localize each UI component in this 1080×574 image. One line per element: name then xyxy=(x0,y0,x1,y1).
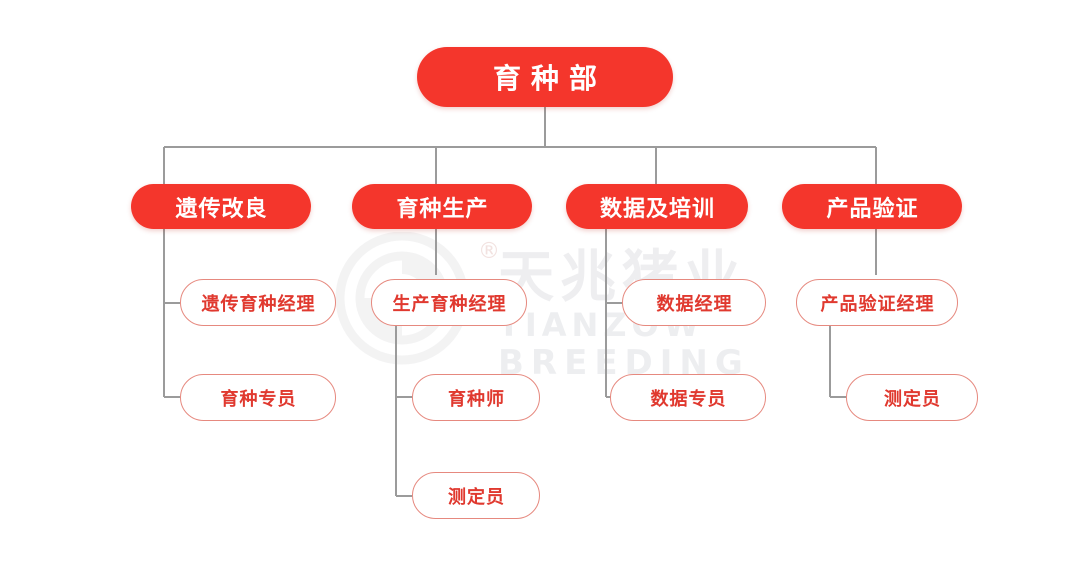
node-measurement-technician-verification[interactable]: 测定员 xyxy=(846,374,978,421)
node-root-breeding-department[interactable]: 育种部 xyxy=(417,47,673,107)
node-data-specialist[interactable]: 数据专员 xyxy=(610,374,766,421)
node-data-manager[interactable]: 数据经理 xyxy=(622,279,766,326)
node-production-breeding-manager[interactable]: 生产育种经理 xyxy=(371,279,527,326)
node-branch-product-verification[interactable]: 产品验证 xyxy=(782,184,962,229)
node-breeder[interactable]: 育种师 xyxy=(412,374,540,421)
watermark-registered-mark: ® xyxy=(478,239,500,264)
node-measurement-technician-production[interactable]: 测定员 xyxy=(412,472,540,519)
node-breeding-specialist[interactable]: 育种专员 xyxy=(180,374,336,421)
node-product-verification-manager[interactable]: 产品验证经理 xyxy=(796,279,958,326)
node-branch-breeding-production[interactable]: 育种生产 xyxy=(352,184,532,229)
node-genetic-breeding-manager[interactable]: 遗传育种经理 xyxy=(180,279,336,326)
node-branch-data-and-training[interactable]: 数据及培训 xyxy=(566,184,748,229)
org-chart-canvas: ® 天兆猪业 TIANZOW BREEDING xyxy=(0,0,1080,574)
node-branch-genetic-improvement[interactable]: 遗传改良 xyxy=(131,184,311,229)
